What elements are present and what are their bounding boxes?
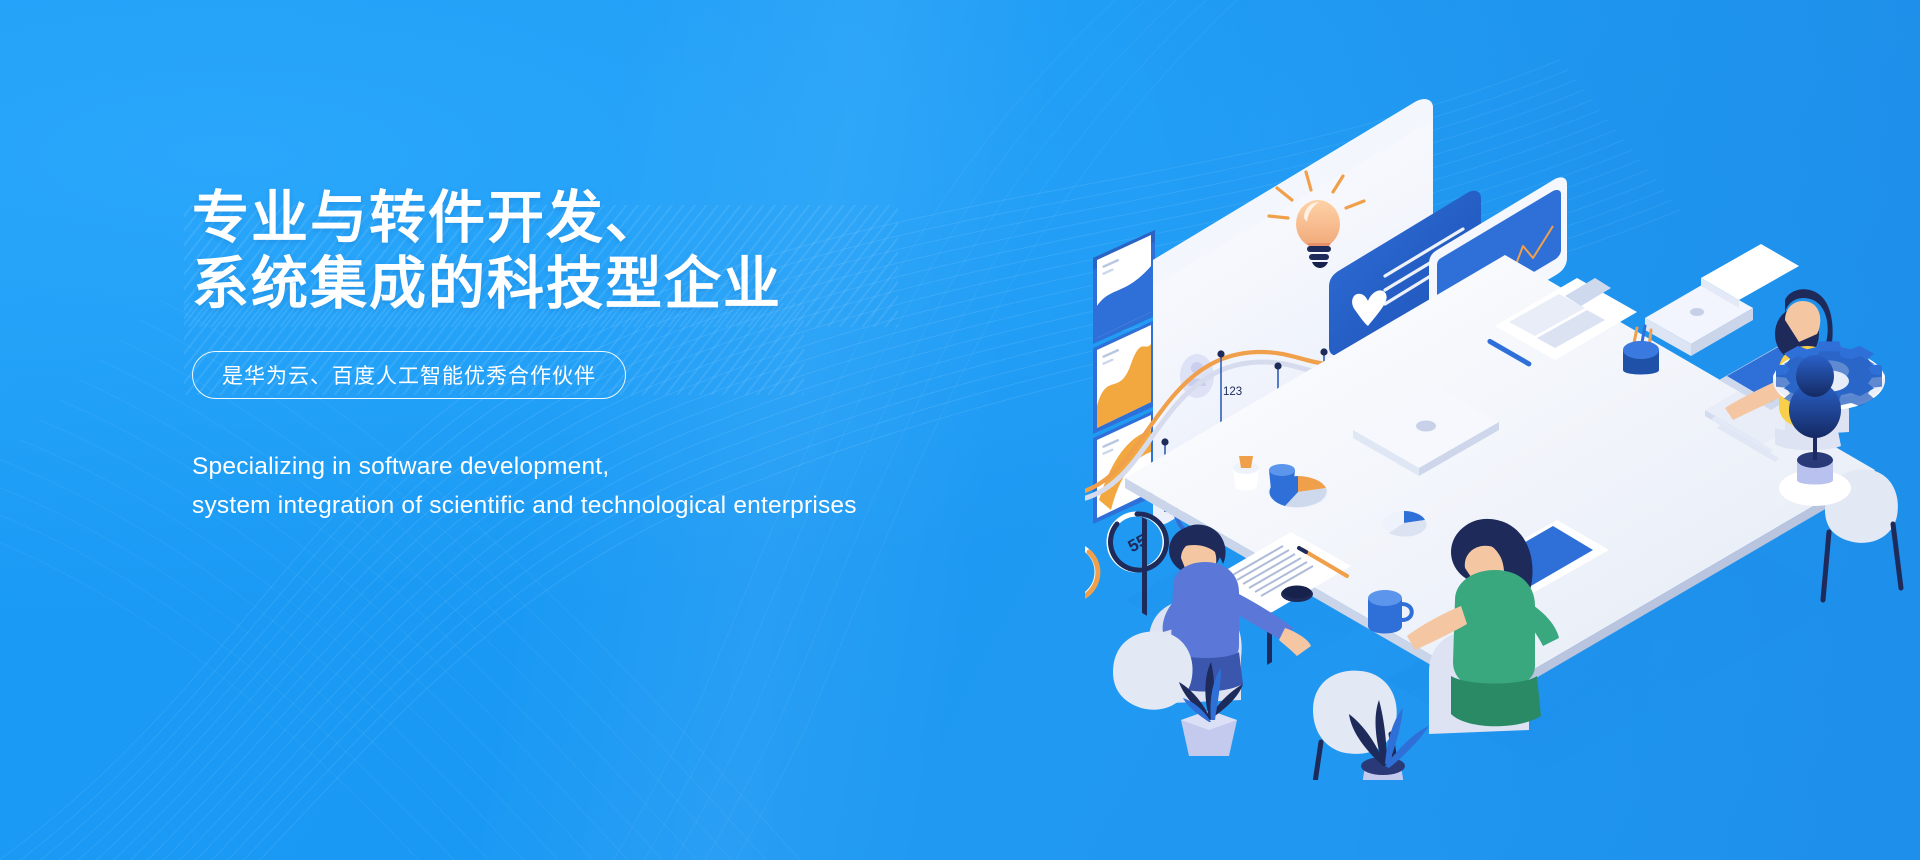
small-cup-2 bbox=[1269, 464, 1295, 495]
subtitle-line-2: system integration of scientific and tec… bbox=[192, 486, 857, 525]
page-title: 专业与转件开发、 系统集成的科技型企业 bbox=[192, 185, 952, 317]
hero-illustration: 65 123 97 81 bbox=[1085, 80, 1905, 780]
hero-copy: 专业与转件开发、 系统集成的科技型企业 是华为云、百度人工智能优秀合作伙伴 Sp… bbox=[192, 185, 952, 317]
hero-banner: 专业与转件开发、 系统集成的科技型企业 是华为云、百度人工智能优秀合作伙伴 Sp… bbox=[0, 0, 1920, 860]
gauge-32-circle: 32 bbox=[1085, 544, 1098, 600]
partner-badge-label: 是华为云、百度人工智能优秀合作伙伴 bbox=[222, 360, 596, 390]
chart-label-1: 123 bbox=[1223, 386, 1242, 398]
subtitle-line-1: Specializing in software development, bbox=[192, 447, 857, 486]
partner-badge[interactable]: 是华为云、百度人工智能优秀合作伙伴 bbox=[192, 351, 626, 399]
hero-subtitle: Specializing in software development, sy… bbox=[192, 447, 857, 525]
gauge-55: 55 bbox=[1109, 514, 1166, 570]
headline-line-2: 系统集成的科技型企业 bbox=[192, 251, 952, 317]
office-chair-left bbox=[1113, 631, 1193, 709]
headline-line-1: 专业与转件开发、 bbox=[192, 185, 952, 251]
